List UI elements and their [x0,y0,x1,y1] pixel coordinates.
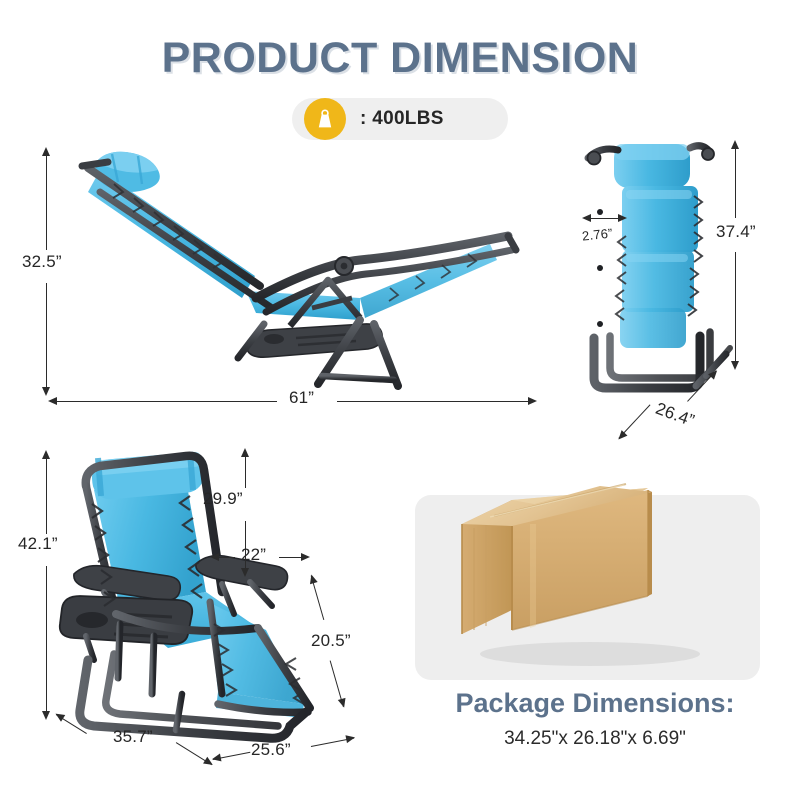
reclined-length-rule-left [56,401,277,402]
dimension-reclined-length: 61” [289,388,314,408]
shipping-carton-illustration [440,478,740,678]
upright-total-height-arrow-top [42,450,50,459]
reclined-chair-illustration [60,148,540,388]
dimension-upright-total-height: 42.1” [18,534,58,554]
package-dimensions-title: Package Dimensions: [400,688,790,719]
folded-height-rule-lower [735,252,736,362]
dimension-upright-armrest-width: 22” [241,545,266,565]
upright-base-width-arrow-left [211,754,221,764]
folded-depth-arrow-tail [615,430,627,442]
upright-total-height-arrow-bottom [42,711,50,720]
dimension-upright-base-depth: 35.7” [113,727,153,747]
package-dimensions-value: 34.25"x 26.18"x 6.69" [400,728,790,750]
upright-base-width-rule-left [213,752,251,761]
folded-height-arrow-bottom [731,361,739,370]
weight-capacity-badge: : 400LBS [292,98,508,140]
upright-total-height-rule-lower [46,566,47,712]
folded-thickness-rule [589,218,621,219]
reclined-height-arrow-bottom [42,387,50,396]
folded-thickness-arrow-right [618,214,627,222]
folded-thickness-arrow-left [582,214,591,222]
weight-icon [304,98,346,140]
upright-backrest-arrow-bottom [241,568,249,577]
upright-armrest-arrow-right [301,553,310,561]
reclined-height-rule-lower [46,283,47,388]
dimension-upright-base-width: 25.6” [251,740,291,760]
upright-backrest-rule-upper [245,456,246,488]
weight-capacity-text: : 400LBS [360,108,444,130]
folded-height-rule-upper [735,148,736,218]
reclined-height-rule-upper [46,155,47,250]
upright-base-width-arrow-right [345,733,355,743]
infographic-canvas: PRODUCT DIMENSION : 400LBS [0,0,800,800]
dimension-upright-backrest: 29.9” [203,489,243,509]
upright-total-height-rule-upper [46,458,47,534]
reclined-length-rule-right [337,401,529,402]
reclined-length-arrow-left [48,397,57,405]
dimension-folded-depth: 26.4” [653,399,697,431]
dimension-upright-seat-depth: 20.5” [311,631,351,651]
reclined-length-arrow-right [528,397,537,405]
upright-armrest-rule-right [279,557,302,558]
folded-chair-illustration [570,140,750,400]
folded-height-arrow-top [731,140,739,149]
upright-armrest-rule-left [217,557,235,558]
upright-backrest-arrow-top [241,448,249,457]
page-title: PRODUCT DIMENSION [0,34,800,83]
dimension-reclined-height: 32.5” [22,252,62,272]
dimension-folded-height: 37.4” [716,222,756,242]
folded-depth-rule-lower [618,404,650,439]
dimension-folded-thickness: 2.76” [581,225,613,243]
upright-armrest-arrow-left [210,553,219,561]
reclined-height-arrow-top [42,147,50,156]
